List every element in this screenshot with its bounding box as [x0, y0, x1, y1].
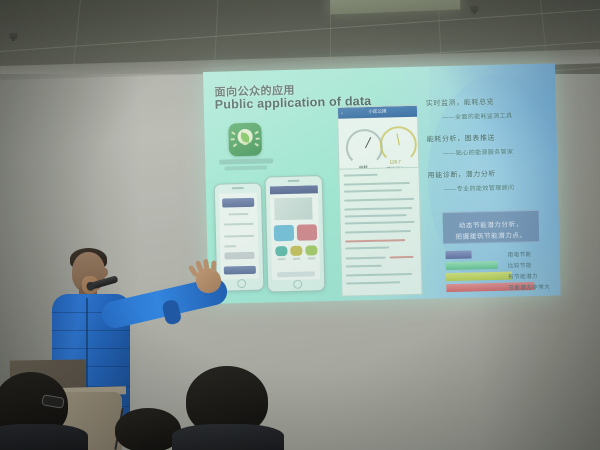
sprinkler-head	[9, 33, 18, 37]
slide: 面向公众的应用 Public application of data	[203, 63, 561, 304]
dashboard-chip-1	[275, 246, 287, 256]
bullet-head-3: 用能诊断，潜力分析	[427, 169, 496, 181]
gauge-panel-title: 小区公摊	[368, 109, 386, 115]
bullet-sub-2: ——贴心的能源服务管家	[443, 146, 514, 157]
bullet-sub-3: ——专业的能效管理顾问	[444, 182, 515, 193]
legend-bar-2	[446, 261, 498, 270]
ceiling-light	[330, 0, 461, 14]
presentation-photo: 面向公众的应用 Public application of data	[0, 0, 600, 450]
legend-bar-1	[445, 250, 471, 259]
legend-label-3: 有节能潜力	[508, 272, 538, 281]
phone-mockup-dashboard	[265, 175, 326, 292]
bullet-sub-1: ——全面的能耗监测工具	[442, 110, 513, 121]
bullet-head-1: 实时监测，能耗总览	[426, 97, 495, 109]
audience-body-right	[172, 424, 284, 450]
legend-label-1: 用电节能	[507, 250, 531, 259]
app-icon-caption	[219, 158, 273, 164]
phone-login-header	[222, 198, 254, 208]
legend-bar-3	[446, 272, 512, 282]
gauge-right-value: 126.7	[375, 159, 415, 165]
presenter-ear	[102, 268, 108, 277]
dashboard-tile-1	[274, 225, 294, 241]
back-chevron-icon: ‹	[341, 110, 343, 116]
legend-label-2: 比较节能	[508, 261, 532, 270]
dashboard-chip-3	[305, 245, 317, 255]
audience-body-left	[0, 424, 88, 450]
gauge-panel-header: ‹ 小区公摊	[338, 106, 417, 119]
bullet-head-2: 能耗分析，图表推送	[427, 133, 496, 145]
callout-line-2: 把握建筑节能潜力点。	[443, 229, 539, 241]
callout-box: 动态节能潜力分析， 把握建筑节能潜力点。	[442, 210, 539, 244]
phone-dashboard-header	[270, 185, 318, 194]
dashboard-chip-2	[290, 246, 302, 256]
app-icon-subcaption	[224, 165, 267, 170]
legend-label-4: 节能潜力非常大	[508, 283, 550, 292]
lightbulb-leaf-icon	[228, 123, 262, 157]
projection-screen: 面向公众的应用 Public application of data	[203, 63, 561, 322]
dashboard-tile-2	[297, 224, 317, 240]
document-panel	[338, 167, 422, 297]
sprinkler-head	[470, 6, 479, 10]
